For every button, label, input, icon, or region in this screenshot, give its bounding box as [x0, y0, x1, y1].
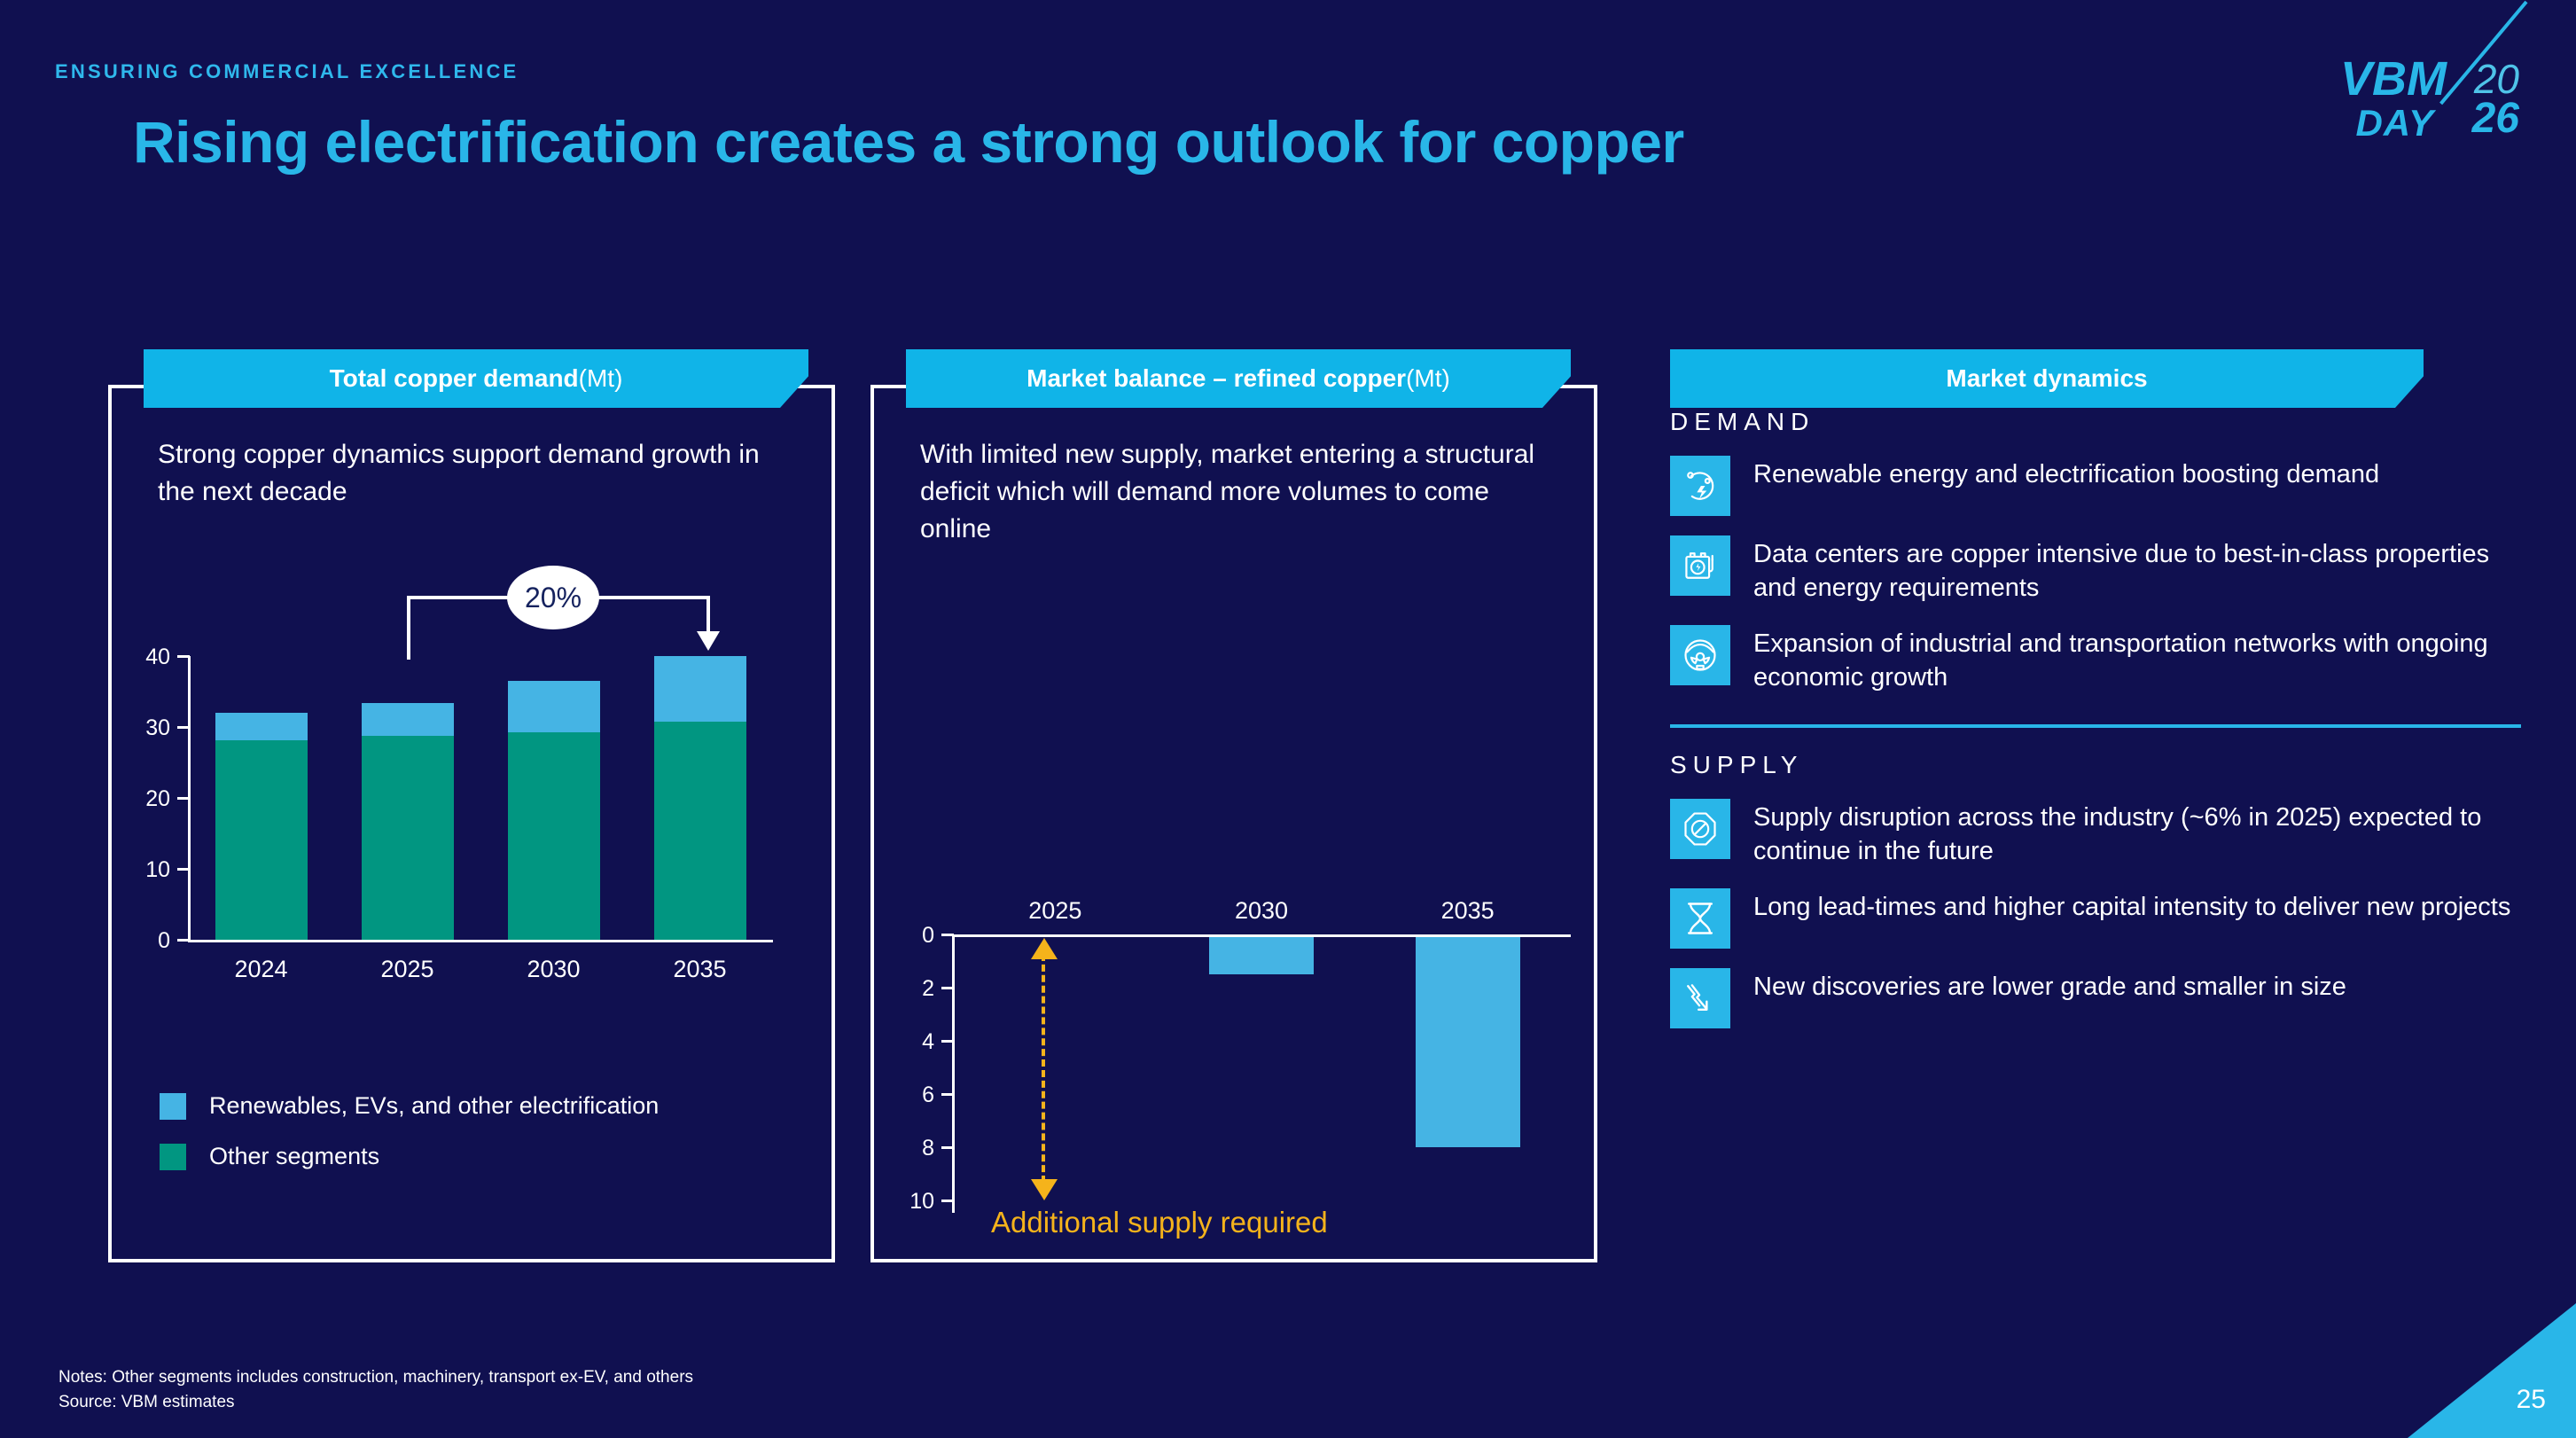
chart-1-segment-other — [362, 736, 454, 940]
chart-1-stacked-bar — [508, 681, 600, 940]
chart-1-segment-other — [654, 722, 746, 940]
page-title: Rising electrification creates a strong … — [133, 108, 1684, 176]
banner-total-copper-demand: Total copper demand (Mt) — [144, 349, 808, 408]
chart-1-tick-mark — [177, 655, 190, 658]
chart-1-x-tick-label: 2030 — [492, 956, 616, 983]
chart-1-stacked-bar — [362, 703, 454, 940]
chart-2-y-tick-label: 0 — [870, 923, 934, 949]
chart-1-segment-renewables — [654, 656, 746, 722]
chart-1-tick-mark — [177, 868, 190, 871]
supply-item-label: Supply disruption across the industry (~… — [1753, 799, 2533, 869]
demand-item-label: Expansion of industrial and transportati… — [1753, 625, 2533, 695]
battery-power-icon — [1670, 535, 1730, 596]
chart-1-segment-renewables — [508, 681, 600, 732]
chart-market-balance: 0246810 202520302035 Additional supply r… — [870, 385, 1597, 1262]
banner-3-bold-label: Market dynamics — [1946, 364, 2147, 393]
supply-caption-label: Additional supply required — [991, 1206, 1328, 1239]
demand-item-list: Renewable energy and electrification boo… — [1670, 456, 2556, 694]
chart-2-deficit-bar — [1209, 937, 1314, 974]
chart-1-segment-other — [215, 740, 308, 940]
source-line: Source: VBM estimates — [59, 1390, 693, 1415]
notes-line: Notes: Other segments includes construct… — [59, 1365, 693, 1390]
callout-right-stem — [706, 596, 710, 635]
chart-2-x-tick-label: 2030 — [1190, 897, 1332, 925]
chart-2-tick-mark — [941, 934, 954, 936]
supply-arrow-down-icon — [1031, 1179, 1058, 1200]
chart-1-y-tick-label: 10 — [108, 857, 170, 883]
demand-item-label: Renewable energy and electrification boo… — [1753, 456, 2379, 491]
banner-2-bold-label: Market balance – refined copper — [1026, 364, 1406, 393]
vbm-day-logo: VBM 20 DAY 26 — [2253, 55, 2519, 152]
chart-1-stacked-bar — [654, 656, 746, 940]
chart-1-y-tick-label: 30 — [108, 715, 170, 741]
chart-2-tick-mark — [941, 987, 954, 989]
chart-1-y-tick-label: 0 — [108, 928, 170, 954]
chart-1-segment-renewables — [362, 703, 454, 737]
callout-arrow-icon — [697, 631, 720, 651]
chart-1-tick-mark — [177, 939, 190, 942]
banner-1-bold-label: Total copper demand — [330, 364, 579, 393]
chart-2-x-tick-label: 2035 — [1397, 897, 1539, 925]
logo-year-top: 20 — [2474, 59, 2519, 99]
chart-1-y-tick-label: 40 — [108, 645, 170, 670]
chart-1-segment-renewables — [215, 713, 308, 740]
corner-decoration — [2408, 1303, 2576, 1438]
chart-2-deficit-bar — [1416, 937, 1520, 1147]
supply-item-list: Supply disruption across the industry (~… — [1670, 799, 2556, 1028]
chart-2-tick-mark — [941, 1200, 954, 1202]
legend-label-other-segments: Other segments — [209, 1143, 379, 1170]
chart-2-y-tick-label: 2 — [870, 976, 934, 1002]
supply-item-label: New discoveries are lower grade and smal… — [1753, 968, 2346, 1004]
legend-swatch-other-segments — [160, 1144, 186, 1170]
chart-1-stacked-bar — [215, 713, 308, 940]
legend-item: Other segments — [160, 1143, 659, 1170]
demand-item[interactable]: Renewable energy and electrification boo… — [1670, 456, 2556, 516]
banner-1-unit-label: (Mt) — [579, 364, 623, 393]
chart-2-y-tick-label: 4 — [870, 1029, 934, 1055]
growth-callout-bubble: 20% — [507, 566, 599, 629]
chart-1-x-tick-label: 2024 — [199, 956, 324, 983]
legend-item: Renewables, EVs, and other electrificati… — [160, 1092, 659, 1120]
chart-1-tick-mark — [177, 726, 190, 729]
chart-2-y-tick-label: 8 — [870, 1136, 934, 1161]
banner-2-unit-label: (Mt) — [1406, 364, 1450, 393]
demand-item[interactable]: Expansion of industrial and transportati… — [1670, 625, 2556, 695]
callout-left-stem — [407, 596, 410, 660]
chart-2-x-tick-label: 2025 — [984, 897, 1126, 925]
chart-2-tick-mark — [941, 1146, 954, 1149]
chart-2-y-axis — [952, 934, 955, 1213]
logo-vbm-text: VBM — [2340, 55, 2447, 103]
logo-year-bottom: 26 — [2472, 98, 2519, 140]
footnotes: Notes: Other segments includes construct… — [59, 1365, 693, 1414]
page-number: 25 — [2517, 1385, 2546, 1415]
logo-day-text: DAY — [2355, 105, 2434, 142]
supply-item[interactable]: Long lead-times and higher capital inten… — [1670, 888, 2556, 949]
demand-item[interactable]: Data centers are copper intensive due to… — [1670, 535, 2556, 606]
renewable-energy-icon — [1670, 456, 1730, 516]
supply-item[interactable]: Supply disruption across the industry (~… — [1670, 799, 2556, 869]
chart-1-y-tick-label: 20 — [108, 786, 170, 812]
legend-swatch-renewables — [160, 1093, 186, 1120]
slide-root: ENSURING COMMERCIAL EXCELLENCE Rising el… — [0, 0, 2576, 1438]
no-entry-icon — [1670, 799, 1730, 859]
hourglass-icon — [1670, 888, 1730, 949]
eyebrow-label: ENSURING COMMERCIAL EXCELLENCE — [55, 60, 519, 83]
chart-1-segment-other — [508, 732, 600, 940]
demand-section-title: DEMAND — [1670, 408, 2556, 436]
chart-2-y-tick-label: 10 — [870, 1189, 934, 1215]
banner-market-balance: Market balance – refined copper (Mt) — [906, 349, 1571, 408]
chart-1-legend: Renewables, EVs, and other electrificati… — [160, 1092, 659, 1193]
supply-section-title: SUPPLY — [1670, 751, 2556, 779]
section-divider — [1670, 724, 2521, 728]
chart-1-x-axis — [188, 940, 773, 942]
chart-2-y-tick-label: 6 — [870, 1082, 934, 1108]
chart-1-x-tick-label: 2025 — [346, 956, 470, 983]
supply-arrow-dashed-line — [1042, 954, 1045, 1183]
banner-market-dynamics: Market dynamics — [1670, 349, 2424, 408]
chart-1-tick-mark — [177, 797, 190, 800]
market-dynamics-column: DEMAND Renewable energy and electrificat… — [1670, 408, 2556, 1028]
chart-1-x-tick-label: 2035 — [638, 956, 762, 983]
chart-2-tick-mark — [941, 1040, 954, 1043]
supply-item-label: Long lead-times and higher capital inten… — [1753, 888, 2510, 924]
chart-2-tick-mark — [941, 1093, 954, 1096]
legend-label-renewables: Renewables, EVs, and other electrificati… — [209, 1092, 659, 1120]
demand-item-label: Data centers are copper intensive due to… — [1753, 535, 2533, 606]
downward-trend-icon — [1670, 968, 1730, 1028]
steering-wheel-icon — [1670, 625, 1730, 685]
supply-item[interactable]: New discoveries are lower grade and smal… — [1670, 968, 2556, 1028]
